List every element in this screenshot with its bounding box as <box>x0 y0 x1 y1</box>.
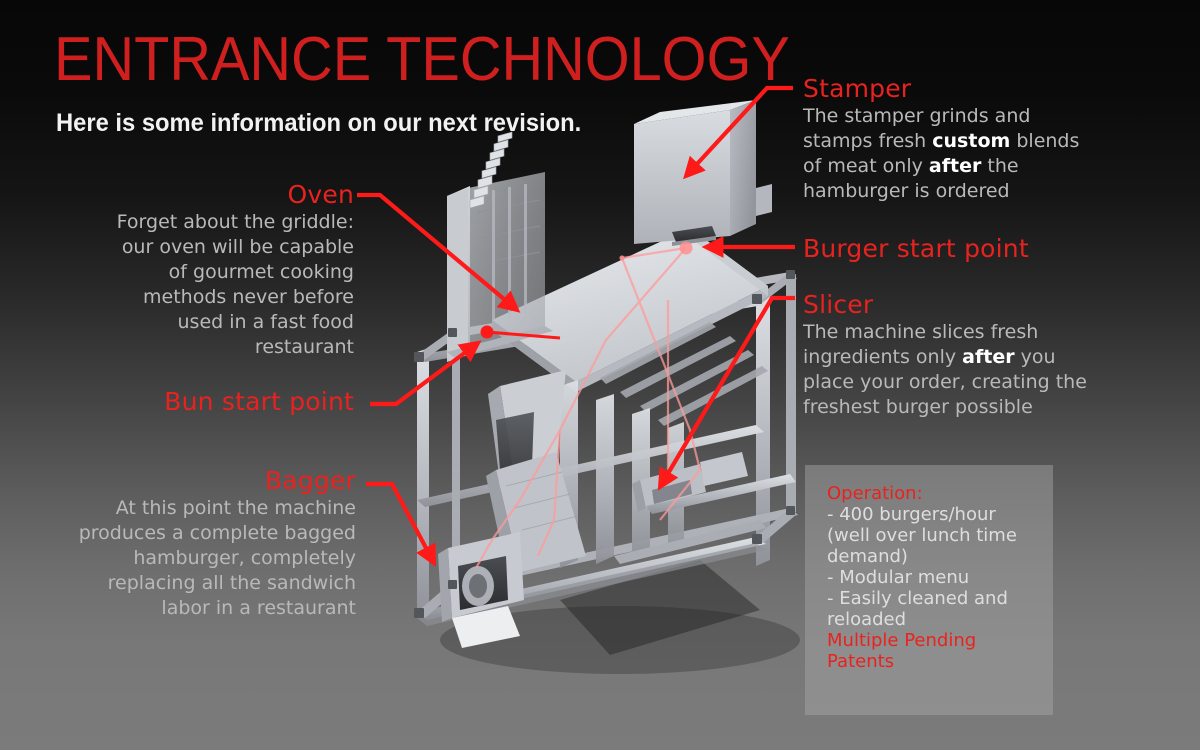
arrow-slicer <box>660 298 795 487</box>
infographic-slide: ENTRANCE TECHNOLOGY Here is some informa… <box>0 0 1200 750</box>
operation-panel-title: Operation: <box>827 483 1042 504</box>
callout-burger-start-point: Burger start point <box>803 234 1083 264</box>
arrow-oven <box>357 195 517 310</box>
callout-oven: Oven Forget about the griddle: our oven … <box>100 180 354 360</box>
callout-slicer-heading: Slicer <box>803 290 1093 320</box>
callout-bagger: Bagger At this point the machine produce… <box>72 466 356 621</box>
page-subtitle: Here is some information on our next rev… <box>56 108 581 138</box>
callout-bagger-heading: Bagger <box>72 466 356 496</box>
operation-panel-line: - Modular menu <box>827 567 1042 588</box>
callout-burger-start-point-heading: Burger start point <box>803 234 1083 264</box>
operation-panel-line: - 400 burgers/hour <box>827 504 1042 525</box>
operation-panel-line: - Easily cleaned and <box>827 588 1042 609</box>
arrow-bagger <box>366 484 434 563</box>
callout-bun-start-point: Bun start point <box>100 387 354 417</box>
callout-bun-start-point-heading: Bun start point <box>100 387 354 417</box>
callout-stamper: Stamper The stamper grinds and stamps fr… <box>803 74 1083 204</box>
operation-panel-footer: Multiple Pending Patents <box>827 630 1042 672</box>
callout-stamper-heading: Stamper <box>803 74 1083 104</box>
callout-bagger-body: At this point the machine produces a com… <box>72 496 356 621</box>
callout-oven-heading: Oven <box>100 180 354 210</box>
oven-anchor-dot <box>481 326 561 339</box>
callout-oven-body: Forget about the griddle: our oven will … <box>100 210 354 360</box>
arrow-bun-start <box>370 343 478 404</box>
operation-panel-line: demand) <box>827 546 1042 567</box>
callout-slicer-body: The machine slices fresh ingredients onl… <box>803 320 1093 420</box>
operation-panel: Operation: - 400 burgers/hour(well over … <box>805 465 1053 715</box>
operation-panel-line: (well over lunch time <box>827 525 1042 546</box>
callout-slicer: Slicer The machine slices fresh ingredie… <box>803 290 1093 420</box>
callout-stamper-body: The stamper grinds and stamps fresh cust… <box>803 104 1083 204</box>
operation-panel-lines: - 400 burgers/hour(well over lunch timed… <box>827 504 1042 630</box>
page-title: ENTRANCE TECHNOLOGY <box>54 28 790 92</box>
operation-panel-line: reloaded <box>827 609 1042 630</box>
arrow-stamper <box>686 88 793 176</box>
